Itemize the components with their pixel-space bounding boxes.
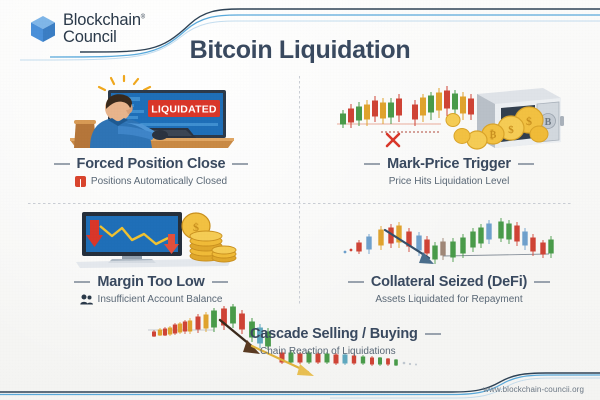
panel-mark-price-trigger[interactable]: B $ $ ₿ Mark-Pri bbox=[304, 76, 594, 187]
vertical-divider bbox=[299, 76, 300, 306]
art-banner-label: LIQUIDATED bbox=[151, 104, 217, 116]
panel-title: Forced Position Close bbox=[77, 156, 226, 172]
panel-subtitle-row: Chain Reaction of Liquidations bbox=[250, 346, 441, 357]
panel-title-row: Cascade Selling / Buying bbox=[250, 326, 441, 342]
panel-subtitle: Insufficient Account Balance bbox=[98, 294, 223, 305]
art-candles-down-arrow bbox=[304, 208, 594, 270]
svg-text:$: $ bbox=[508, 124, 514, 136]
footer: www.blockchain-councii.org bbox=[0, 370, 600, 400]
footer-url[interactable]: www.blockchain-councii.org bbox=[483, 385, 584, 394]
panel-subtitle: Positions Automatically Closed bbox=[91, 176, 227, 187]
title-rule-left bbox=[364, 163, 380, 165]
panel-title: Collateral Seized (DeFi) bbox=[371, 274, 527, 290]
panel-margin-too-low[interactable]: $ Margin Too Low bbox=[6, 208, 296, 305]
svg-text:₿: ₿ bbox=[490, 129, 497, 141]
panel-subtitle: Assets Liquidated for Repayment bbox=[375, 294, 522, 305]
panel-subtitle-row: Insufficient Account Balance bbox=[6, 294, 296, 305]
panel-collateral-seized-defi[interactable]: Collateral Seized (DeFi) Assets Liquidat… bbox=[304, 208, 594, 305]
registered-mark-icon: ® bbox=[141, 15, 145, 21]
warning-exclamation-icon bbox=[75, 176, 86, 187]
panel-subtitle-row: Price Hits Liquidation Level bbox=[304, 176, 594, 187]
svg-text:B: B bbox=[545, 117, 552, 128]
bottom-panel-title: Cascade Selling / Buying bbox=[250, 326, 418, 342]
panel-forced-position-close[interactable]: LIQUIDATED bbox=[6, 76, 296, 187]
title-rule-right bbox=[425, 333, 441, 335]
panel-title-row: Forced Position Close bbox=[6, 156, 296, 172]
title-rule-right bbox=[232, 163, 248, 165]
users-group-icon bbox=[80, 294, 93, 305]
art-candles-safe-bitcoin: B $ $ ₿ bbox=[304, 76, 594, 152]
bottom-panel-subtitle: Chain Reaction of Liquidations bbox=[260, 346, 396, 357]
title-rule-left bbox=[74, 281, 90, 283]
panel-title-row: Margin Too Low bbox=[6, 274, 296, 290]
panel-title-row: Collateral Seized (DeFi) bbox=[304, 274, 594, 290]
panel-title: Mark-Price Trigger bbox=[387, 156, 511, 172]
panel-subtitle: Price Hits Liquidation Level bbox=[389, 176, 510, 187]
horizontal-divider bbox=[28, 203, 572, 204]
panel-subtitle-row: Assets Liquidated for Repayment bbox=[304, 294, 594, 305]
panel-subtitle-row: Positions Automatically Closed bbox=[6, 176, 296, 187]
svg-text:$: $ bbox=[526, 114, 532, 128]
page-title: Bitcoin Liquidation bbox=[0, 36, 600, 65]
art-monitor-down-arrow-coins: $ bbox=[6, 208, 296, 270]
title-rule-left bbox=[348, 281, 364, 283]
brand-logo-line1: Blockchain bbox=[63, 11, 141, 29]
title-rule-left bbox=[54, 163, 70, 165]
bottom-panel-text: Cascade Selling / Buying Chain Reaction … bbox=[250, 326, 441, 357]
infographic-canvas: Blockchain® Council Bitcoin Liquidation bbox=[0, 0, 600, 400]
title-rule-right bbox=[518, 163, 534, 165]
art-person-at-monitor-liquidated: LIQUIDATED bbox=[6, 76, 296, 152]
title-rule-right bbox=[534, 281, 550, 283]
panel-title-row: Mark-Price Trigger bbox=[304, 156, 594, 172]
panel-cascade-selling-buying[interactable]: Cascade Selling / Buying Chain Reaction … bbox=[0, 312, 600, 376]
panel-title: Margin Too Low bbox=[97, 274, 204, 290]
title-rule-right bbox=[212, 281, 228, 283]
